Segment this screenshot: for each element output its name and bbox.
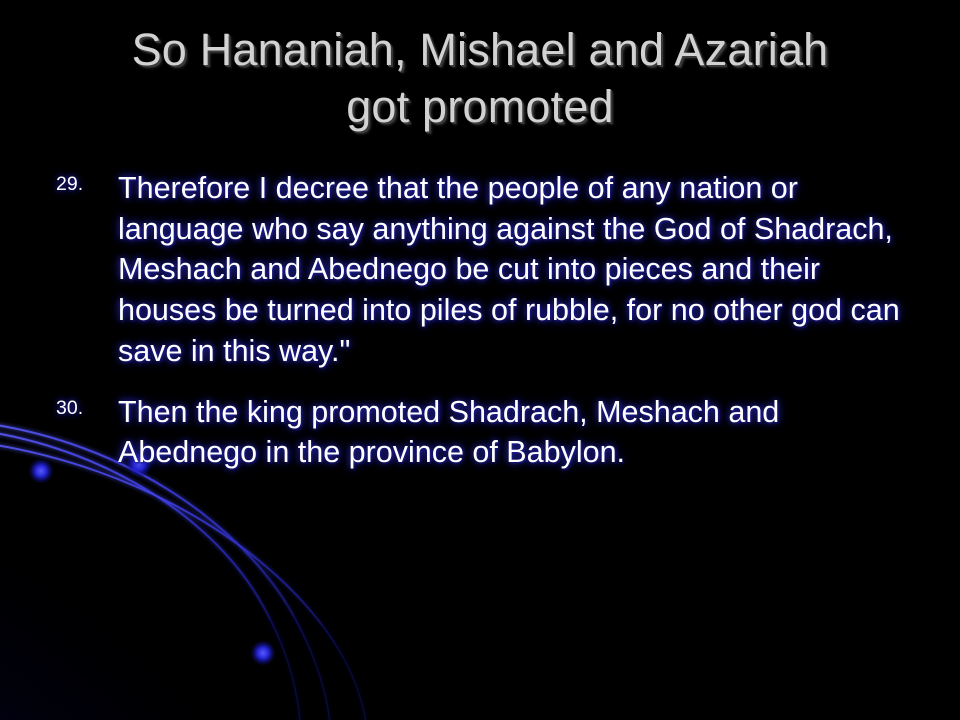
- slide-body: 29. Therefore I decree that the people o…: [34, 168, 914, 473]
- list-item-number: 29.: [56, 175, 83, 195]
- slide-title: So Hananiah, Mishael and Azariah got pro…: [24, 22, 936, 135]
- orbit-arc-inner: [0, 432, 300, 720]
- list-item: 30. Then the king promoted Shadrach, Mes…: [34, 392, 914, 473]
- slide-title-text: So Hananiah, Mishael and Azariah got pro…: [24, 22, 936, 135]
- presentation-slide: So Hananiah, Mishael and Azariah got pro…: [0, 0, 960, 720]
- list-item-text: Therefore I decree that the people of an…: [118, 171, 900, 368]
- list-item-text: Then the king promoted Shadrach, Meshach…: [118, 395, 779, 470]
- list-item-number: 30.: [56, 399, 83, 419]
- orbit-dot-lower: [250, 640, 276, 666]
- list-item: 29. Therefore I decree that the people o…: [34, 168, 914, 372]
- orbit-arc-outer: [0, 444, 366, 720]
